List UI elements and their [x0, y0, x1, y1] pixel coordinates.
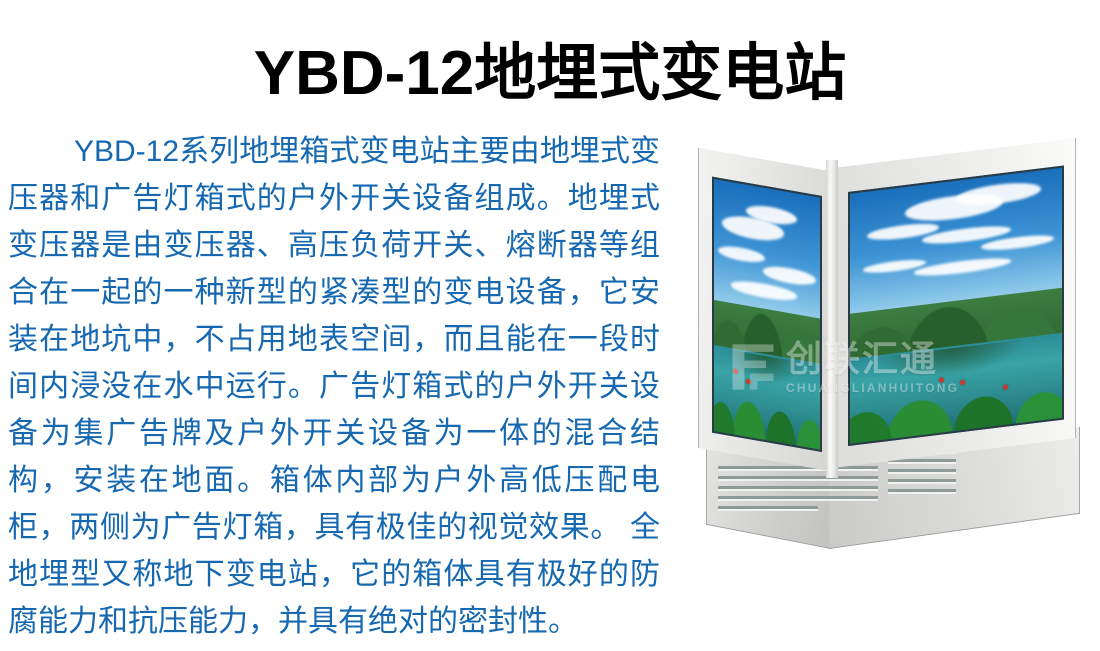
product-photo-stage: 创联汇通 CHUANGLIANHUITONG [690, 150, 1090, 570]
advertising-lightbox-right [848, 165, 1064, 446]
advertising-lightbox-left [712, 177, 822, 452]
page-title: YBD-12地埋式变电站 [0, 34, 1100, 114]
product-photo: 创联汇通 CHUANGLIANHUITONG [690, 150, 1090, 570]
cabinet-corner-post [826, 160, 838, 478]
product-description-paragraph: YBD-12系列地埋箱式变电站主要由地埋式变压器和广告灯箱式的户外开关设备组成。… [8, 128, 660, 645]
page-root: YBD-12地埋式变电站 YBD-12系列地埋箱式变电站主要由地埋式变压器和广告… [0, 0, 1100, 651]
